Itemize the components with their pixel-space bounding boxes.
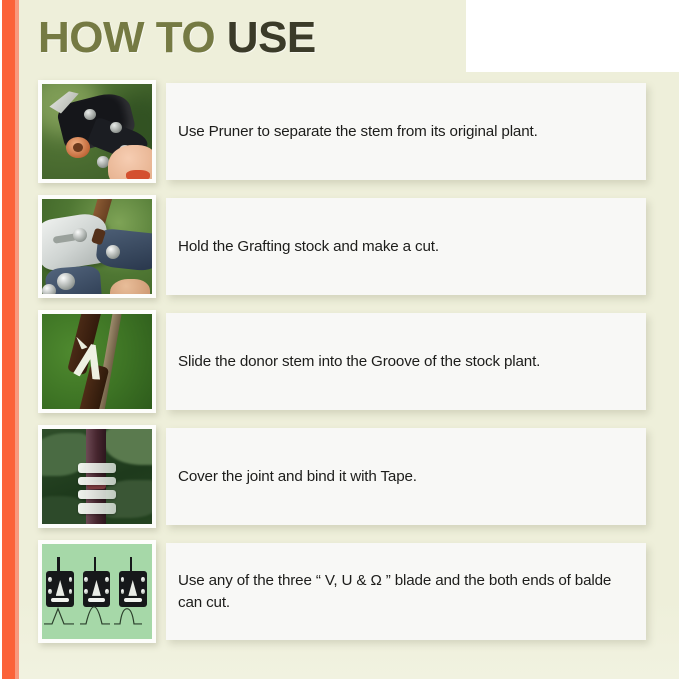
step-row: Slide the donor stem into the Groove of …: [0, 310, 679, 425]
step-text: Slide the donor stem into the Groove of …: [166, 351, 556, 373]
step-text: Use any of the three “ V, U & Ω ” blade …: [166, 570, 646, 613]
step-row: Hold the Grafting stock and make a cut.: [0, 195, 679, 310]
step-text: Use Pruner to separate the stem from its…: [166, 121, 554, 143]
v-notch-graft-joint-photo: [42, 314, 152, 409]
step-row: Cover the joint and bind it with Tape.: [0, 425, 679, 540]
grafting-tool-blade-photo: [42, 199, 152, 294]
step-text-card: Cover the joint and bind it with Tape.: [166, 428, 646, 525]
how-to-use-infographic: HOW TO USE: [0, 0, 679, 679]
step-thumbnail-frame: [38, 80, 156, 183]
top-right-white-block: [466, 0, 679, 72]
step-text-card: Use any of the three “ V, U & Ω ” blade …: [166, 543, 646, 640]
step-thumbnail-frame: [38, 310, 156, 413]
page-title: HOW TO USE: [38, 16, 316, 60]
step-text: Hold the Grafting stock and make a cut.: [166, 236, 455, 258]
steps-list: Use Pruner to separate the stem from its…: [0, 80, 679, 655]
three-blade-types-diagram: [42, 544, 152, 639]
step-text-card: Use Pruner to separate the stem from its…: [166, 83, 646, 180]
step-row: Use any of the three “ V, U & Ω ” blade …: [0, 540, 679, 655]
taped-graft-joint-photo: [42, 429, 152, 524]
step-text: Cover the joint and bind it with Tape.: [166, 466, 433, 488]
step-text-card: Hold the Grafting stock and make a cut.: [166, 198, 646, 295]
step-text-card: Slide the donor stem into the Groove of …: [166, 313, 646, 410]
step-thumbnail-frame: [38, 425, 156, 528]
step-row: Use Pruner to separate the stem from its…: [0, 80, 679, 195]
pruner-cutting-stem-photo: [42, 84, 152, 179]
page-title-part-one: HOW TO: [38, 13, 215, 62]
blade-profile-curves: [42, 603, 152, 628]
page-title-part-two: USE: [227, 13, 316, 62]
step-thumbnail-frame: [38, 540, 156, 643]
step-thumbnail-frame: [38, 195, 156, 298]
